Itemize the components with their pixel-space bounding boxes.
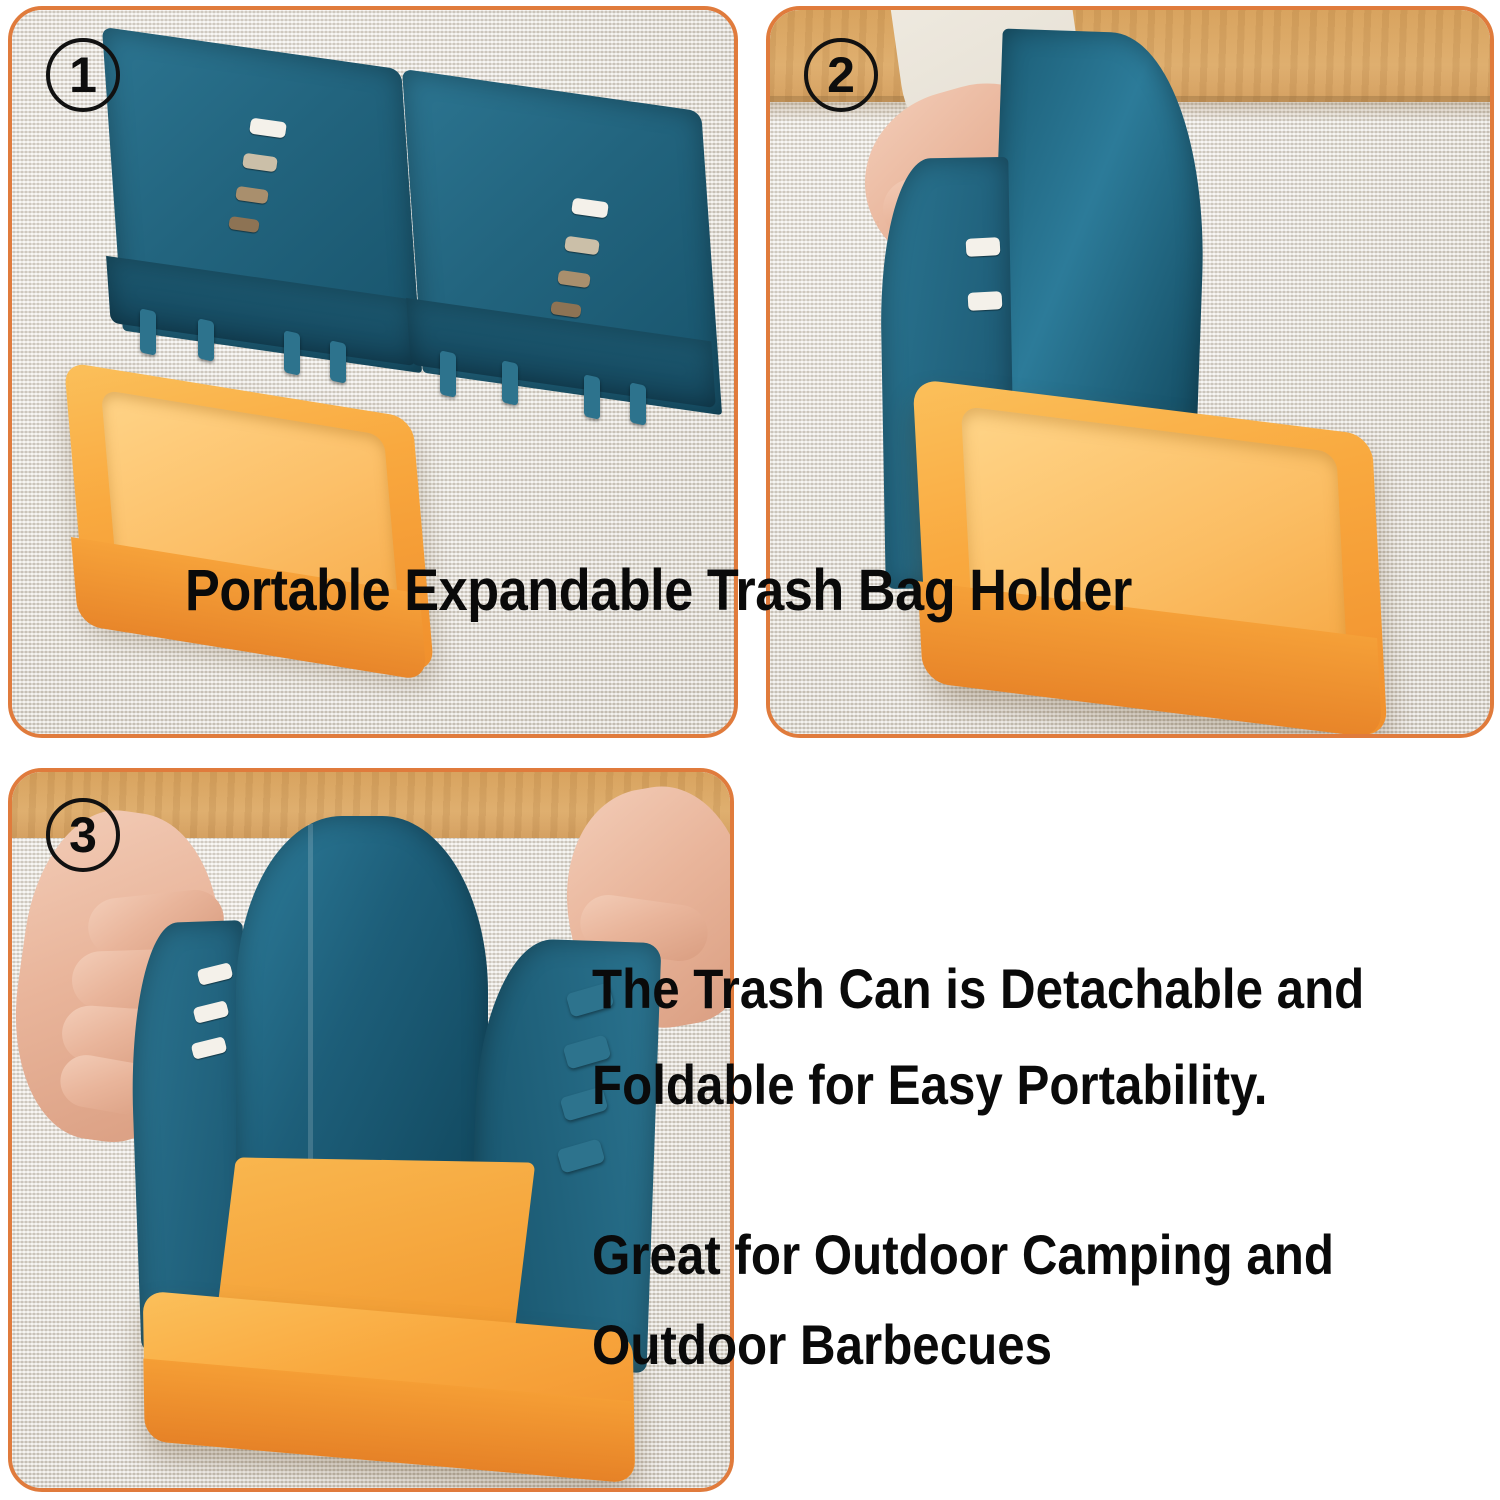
wall-hook-tab xyxy=(198,318,214,361)
step-panel-2: 2 xyxy=(766,6,1494,738)
step-panel-3: 3 xyxy=(8,768,734,1492)
wall-hook-tab xyxy=(502,360,518,405)
step-panel-1: 1 xyxy=(8,6,738,738)
teal-back-wall-crease xyxy=(308,824,313,1194)
feature-text-line-2: Foldable for Easy Portability. xyxy=(592,1052,1267,1117)
step-badge-2: 2 xyxy=(804,38,878,112)
wall-slot-icon xyxy=(966,237,1001,257)
feature-text-line-4: Outdoor Barbecues xyxy=(592,1312,1052,1377)
wall-hook-tab xyxy=(440,350,456,397)
wall-hook-tab xyxy=(584,374,600,419)
product-title: Portable Expandable Trash Bag Holder xyxy=(185,557,1132,624)
infographic-root: 1 2 xyxy=(0,0,1500,1500)
wall-hook-tab xyxy=(330,340,346,383)
step-badge-1: 1 xyxy=(46,38,120,112)
product-photo-step-1 xyxy=(12,10,734,734)
feature-text-line-3: Great for Outdoor Camping and xyxy=(592,1222,1334,1287)
wall-slot-icon xyxy=(968,291,1003,311)
feature-text-line-1: The Trash Can is Detachable and xyxy=(592,956,1364,1021)
wall-hook-tab xyxy=(140,308,156,355)
product-photo-step-2 xyxy=(770,10,1490,734)
product-photo-step-3 xyxy=(12,772,730,1488)
wall-hook-tab xyxy=(284,330,300,375)
wall-hook-tab xyxy=(630,382,646,425)
step-badge-3: 3 xyxy=(46,798,120,872)
